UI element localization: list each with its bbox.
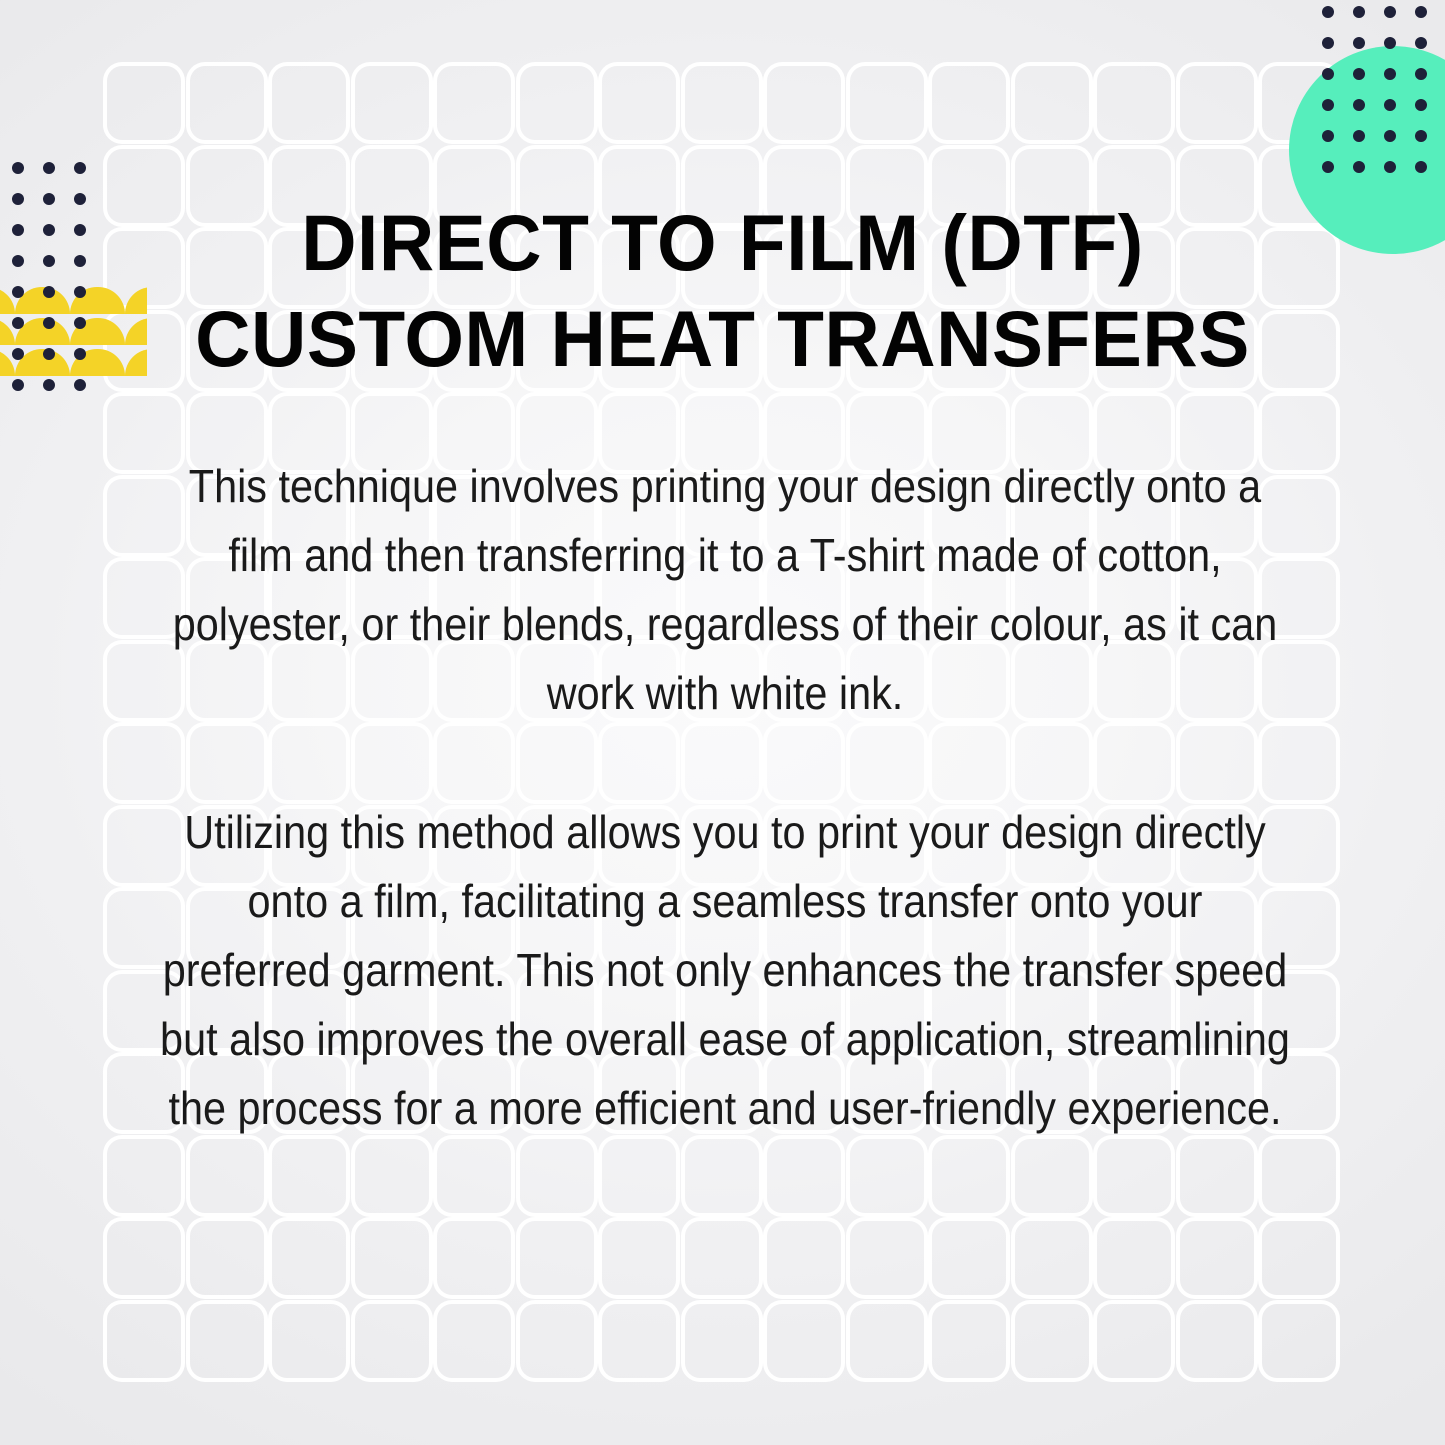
dot bbox=[12, 348, 24, 360]
poster-canvas: DIRECT TO FILM (DTF) CUSTOM HEAT TRANSFE… bbox=[0, 0, 1445, 1445]
grid-cell bbox=[685, 66, 759, 140]
page-title-line-1: DIRECT TO FILM (DTF) bbox=[138, 195, 1307, 291]
grid-cell bbox=[932, 1304, 1006, 1378]
yellow-semicircle bbox=[125, 349, 147, 376]
grid-cell bbox=[520, 1139, 594, 1213]
dot bbox=[74, 193, 86, 205]
grid-cell bbox=[1180, 66, 1254, 140]
grid-cell bbox=[272, 1221, 346, 1295]
dot bbox=[43, 193, 55, 205]
dot bbox=[43, 162, 55, 174]
dot bbox=[1322, 130, 1334, 142]
page-title: DIRECT TO FILM (DTF) CUSTOM HEAT TRANSFE… bbox=[138, 195, 1307, 387]
dot bbox=[74, 286, 86, 298]
grid-cell bbox=[1015, 66, 1089, 140]
dot bbox=[1322, 6, 1334, 18]
dot bbox=[12, 379, 24, 391]
grid-cell bbox=[1097, 66, 1171, 140]
grid-cell bbox=[190, 1304, 264, 1378]
dot bbox=[1384, 6, 1396, 18]
grid-cell bbox=[272, 66, 346, 140]
grid-cell bbox=[437, 66, 511, 140]
grid-cell bbox=[1015, 1221, 1089, 1295]
dot bbox=[1353, 6, 1365, 18]
dot bbox=[43, 286, 55, 298]
grid-cell bbox=[437, 1221, 511, 1295]
grid-cell bbox=[520, 66, 594, 140]
body-paragraph-2: Utilizing this method allows you to prin… bbox=[159, 798, 1291, 1143]
dot bbox=[12, 255, 24, 267]
grid-cell bbox=[685, 1221, 759, 1295]
dot bbox=[1322, 161, 1334, 173]
dot bbox=[1322, 37, 1334, 49]
dot bbox=[1415, 161, 1427, 173]
grid-cell bbox=[355, 1139, 429, 1213]
dot bbox=[1415, 99, 1427, 111]
dot bbox=[1415, 130, 1427, 142]
dot bbox=[1384, 68, 1396, 80]
dot bbox=[74, 255, 86, 267]
dot bbox=[1353, 99, 1365, 111]
grid-cell bbox=[685, 1139, 759, 1213]
grid-cell bbox=[602, 1304, 676, 1378]
dot bbox=[1353, 130, 1365, 142]
grid-cell bbox=[272, 1139, 346, 1213]
grid-cell bbox=[602, 1139, 676, 1213]
dot bbox=[43, 348, 55, 360]
dot bbox=[1415, 37, 1427, 49]
grid-cell bbox=[1180, 1139, 1254, 1213]
grid-cell bbox=[355, 1221, 429, 1295]
grid-cell bbox=[1262, 1221, 1336, 1295]
dot bbox=[1322, 99, 1334, 111]
grid-cell bbox=[1097, 1139, 1171, 1213]
dot bbox=[12, 224, 24, 236]
dot bbox=[43, 255, 55, 267]
dot-grid-top-right bbox=[1322, 6, 1445, 170]
dot bbox=[12, 317, 24, 329]
grid-cell bbox=[107, 1304, 181, 1378]
grid-cell bbox=[932, 66, 1006, 140]
dot bbox=[12, 193, 24, 205]
dot bbox=[74, 348, 86, 360]
grid-cell bbox=[355, 1304, 429, 1378]
grid-cell bbox=[520, 1304, 594, 1378]
body-copy: This technique involves printing your de… bbox=[96, 452, 1354, 1143]
grid-cell bbox=[437, 1139, 511, 1213]
grid-cell bbox=[1262, 1304, 1336, 1378]
dot bbox=[1415, 68, 1427, 80]
dot bbox=[1384, 37, 1396, 49]
grid-cell bbox=[520, 1221, 594, 1295]
grid-cell bbox=[1097, 1304, 1171, 1378]
dot bbox=[43, 317, 55, 329]
grid-cell bbox=[190, 66, 264, 140]
grid-cell bbox=[190, 1139, 264, 1213]
dot bbox=[43, 224, 55, 236]
grid-cell bbox=[1180, 1221, 1254, 1295]
grid-cell bbox=[767, 66, 841, 140]
grid-cell bbox=[602, 66, 676, 140]
grid-cell bbox=[850, 1221, 924, 1295]
grid-cell bbox=[1097, 1221, 1171, 1295]
yellow-semicircle bbox=[125, 318, 147, 345]
body-paragraph-1: This technique involves printing your de… bbox=[159, 452, 1291, 728]
grid-cell bbox=[107, 66, 181, 140]
grid-cell bbox=[355, 66, 429, 140]
dot-grid-left bbox=[12, 162, 92, 385]
grid-cell bbox=[1015, 1304, 1089, 1378]
dot bbox=[74, 379, 86, 391]
dot bbox=[1353, 161, 1365, 173]
grid-cell bbox=[107, 1221, 181, 1295]
grid-cell bbox=[850, 66, 924, 140]
grid-cell bbox=[272, 1304, 346, 1378]
dot bbox=[1384, 161, 1396, 173]
grid-cell bbox=[1015, 1139, 1089, 1213]
grid-cell bbox=[437, 1304, 511, 1378]
grid-cell bbox=[850, 1139, 924, 1213]
grid-cell bbox=[1262, 1139, 1336, 1213]
dot bbox=[74, 162, 86, 174]
dot bbox=[74, 317, 86, 329]
dot bbox=[12, 286, 24, 298]
grid-cell bbox=[602, 1221, 676, 1295]
dot bbox=[74, 224, 86, 236]
dot bbox=[1384, 130, 1396, 142]
dot bbox=[1353, 37, 1365, 49]
grid-cell bbox=[850, 1304, 924, 1378]
grid-cell bbox=[1180, 1304, 1254, 1378]
dot bbox=[1384, 99, 1396, 111]
grid-cell bbox=[932, 1139, 1006, 1213]
dot bbox=[1415, 6, 1427, 18]
page-title-line-2: CUSTOM HEAT TRANSFERS bbox=[138, 291, 1307, 387]
grid-cell bbox=[767, 1221, 841, 1295]
grid-cell bbox=[932, 1221, 1006, 1295]
grid-cell bbox=[190, 1221, 264, 1295]
dot bbox=[1322, 68, 1334, 80]
dot bbox=[12, 162, 24, 174]
yellow-semicircle bbox=[125, 287, 147, 314]
grid-cell bbox=[107, 1139, 181, 1213]
dot bbox=[1353, 68, 1365, 80]
grid-cell bbox=[767, 1139, 841, 1213]
dot bbox=[43, 379, 55, 391]
grid-cell bbox=[767, 1304, 841, 1378]
grid-cell bbox=[685, 1304, 759, 1378]
